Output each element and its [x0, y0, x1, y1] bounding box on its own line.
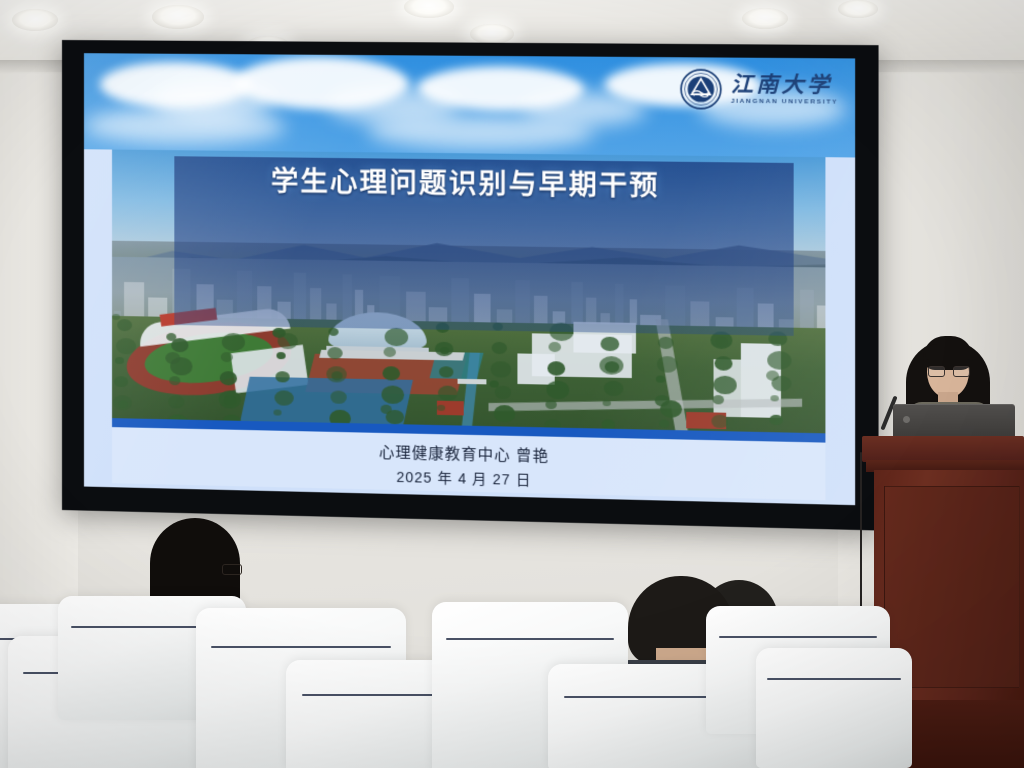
chair-piping: [767, 678, 901, 680]
tree: [491, 361, 512, 378]
tree: [771, 376, 791, 392]
downlight-1-icon: [12, 9, 58, 31]
downlight-2-icon: [152, 5, 204, 29]
tree: [547, 361, 565, 375]
tree: [117, 319, 132, 331]
tree: [712, 395, 724, 404]
tree: [494, 405, 516, 423]
canal-bridge: [458, 379, 487, 385]
tree: [171, 338, 188, 352]
tree: [439, 366, 453, 378]
tree: [118, 400, 128, 408]
attendee-front-left-glasses: [222, 564, 242, 575]
tree: [716, 337, 729, 347]
tree: [711, 414, 728, 427]
tree: [660, 400, 682, 418]
slide-margin-right: [825, 157, 855, 501]
tree: [327, 347, 342, 359]
chair-piping: [211, 646, 392, 648]
jiangnan-emblem-icon: [679, 67, 723, 110]
tree: [658, 337, 674, 350]
tree: [331, 371, 342, 380]
tree: [382, 385, 405, 403]
university-logo: 江南大学 JIANGNAN UNIVERSITY: [679, 67, 838, 111]
tree: [114, 376, 128, 387]
tree: [221, 352, 233, 362]
tree: [278, 333, 298, 350]
university-name-cn: 江南大学: [731, 74, 838, 96]
tree: [383, 366, 400, 380]
tree: [330, 390, 346, 403]
tree: [438, 385, 458, 401]
chair-piping: [719, 636, 877, 638]
tree: [659, 420, 669, 428]
tree: [715, 356, 733, 370]
lecture-hall-photo: 江南大学 JIANGNAN UNIVERSITY: [0, 0, 1024, 768]
presenter-glasses-left: [928, 366, 945, 377]
chair-9[interactable]: [756, 648, 912, 768]
presenter-bangs: [925, 344, 971, 360]
tree: [328, 328, 338, 336]
presentation-slide: 江南大学 JIANGNAN UNIVERSITY: [84, 53, 855, 505]
presenter-glasses-right: [953, 366, 970, 377]
tree: [604, 381, 624, 397]
tree: [545, 400, 556, 409]
tree: [220, 371, 237, 385]
downlight-6-icon: [742, 8, 788, 29]
tree: [495, 386, 512, 399]
tree: [169, 376, 180, 385]
projection-screen-surface: 江南大学 JIANGNAN UNIVERSITY: [84, 53, 855, 505]
projection-screen-frame: 江南大学 JIANGNAN UNIVERSITY: [62, 40, 879, 531]
tree: [492, 342, 508, 354]
downlight-5-icon: [470, 24, 514, 44]
chair-piping: [446, 638, 615, 640]
tree: [657, 356, 678, 373]
podium-top-surface: [862, 436, 1024, 462]
university-name-en: JIANGNAN UNIVERSITY: [731, 99, 838, 106]
tree: [274, 390, 293, 406]
slide-margin-left: [84, 149, 112, 483]
downlight-7-icon: [838, 0, 878, 18]
laptop-logo-icon: [903, 416, 910, 423]
tree: [546, 380, 569, 398]
tree: [549, 342, 561, 352]
university-logo-text: 江南大学 JIANGNAN UNIVERSITY: [731, 74, 838, 106]
tree: [116, 338, 136, 354]
tree: [168, 395, 184, 408]
tree: [714, 376, 737, 395]
tree: [605, 361, 620, 373]
tree: [384, 347, 396, 357]
tree: [170, 357, 192, 375]
